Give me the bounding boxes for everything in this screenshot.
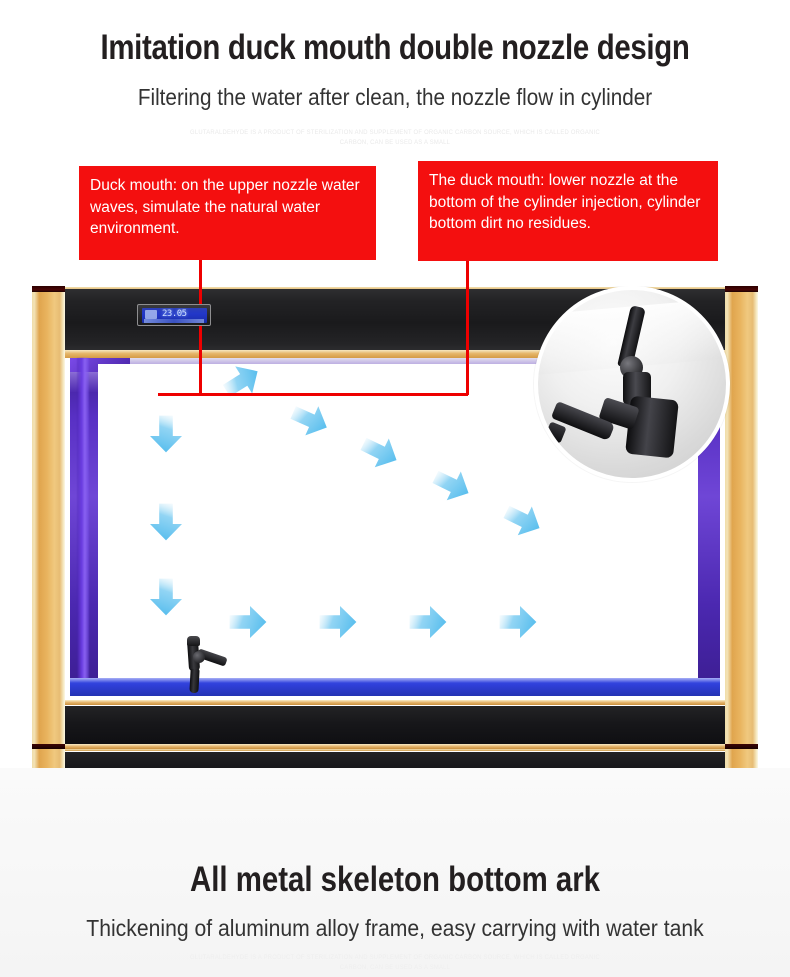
- page-subtitle: Filtering the water after clean, the noz…: [40, 84, 751, 111]
- flow-arrow-down-0: [146, 414, 186, 454]
- nozzle-joint: [193, 651, 205, 663]
- frame-post-left: [32, 286, 65, 768]
- flow-arrow-down-2: [146, 577, 186, 617]
- aquarium-photo: [32, 286, 758, 768]
- led-indicator-row: [144, 319, 204, 323]
- frame-cap-left-top: [32, 286, 65, 292]
- flow-arrow-right-11: [498, 602, 538, 642]
- cabinet-trim-thin: [65, 749, 725, 751]
- cabinet-panel-1: [65, 706, 725, 744]
- callout-upper-nozzle: Duck mouth: on the upper nozzle water wa…: [79, 166, 376, 260]
- flow-arrow-right-9: [318, 602, 358, 642]
- nozzle-head: [187, 636, 200, 646]
- flow-arrow-down-1: [146, 502, 186, 542]
- product-closeup-inset: [534, 286, 730, 482]
- watermark-top-line1: GLUTARALDEHYDE IS A PRODUCT OF STERILIZA…: [20, 128, 771, 138]
- cabinet-trim-1: [65, 700, 725, 705]
- tank-bottom-rim-sheen: [70, 678, 720, 683]
- section-metal-skeleton: All metal skeleton bottom ark Thickening…: [0, 768, 790, 977]
- infographic-page: Imitation duck mouth double nozzle desig…: [0, 0, 790, 977]
- leader-line-right-vertical: [466, 261, 469, 395]
- callout-lower-nozzle: The duck mouth: lower nozzle at the bott…: [418, 161, 718, 261]
- section2-subtitle: Thickening of aluminum alloy frame, easy…: [32, 915, 759, 942]
- section2-title: All metal skeleton bottom ark: [63, 860, 727, 900]
- flow-arrow-right-10: [408, 602, 448, 642]
- nozzle-stem: [189, 669, 199, 693]
- frame-stripe-left: [32, 744, 65, 749]
- led-screen: 23.05: [142, 308, 207, 323]
- tank-glass-edge-left: [77, 358, 89, 690]
- watermark-top-line2: CARBON, CAN BE USED AS A SMALL: [20, 138, 771, 148]
- watermark-bottom-line2: CARBON, CAN BE USED AS A SMALL: [20, 963, 771, 973]
- flow-arrow-right-8: [228, 602, 268, 642]
- frame-cap-right-top: [725, 286, 758, 292]
- led-temperature-readout: 23.05: [162, 309, 187, 319]
- upper-nozzle-device: [178, 636, 224, 694]
- page-title: Imitation duck mouth double nozzle desig…: [63, 28, 727, 68]
- watermark-bottom-line1: GLUTARALDEHYDE IS A PRODUCT OF STERILIZA…: [20, 953, 771, 963]
- frame-stripe-right: [725, 744, 758, 749]
- led-controller-display[interactable]: 23.05: [137, 304, 211, 326]
- leader-line-horizontal: [158, 393, 468, 396]
- watermark-top: GLUTARALDEHYDE IS A PRODUCT OF STERILIZA…: [20, 128, 771, 148]
- cabinet-panel-2: [65, 752, 725, 768]
- leader-line-left-vertical: [199, 260, 202, 395]
- watermark-bottom: GLUTARALDEHYDE IS A PRODUCT OF STERILIZA…: [20, 953, 771, 973]
- section-nozzle-design: Imitation duck mouth double nozzle desig…: [0, 0, 790, 768]
- frame-post-right: [725, 286, 758, 768]
- led-icon-block: [145, 310, 157, 319]
